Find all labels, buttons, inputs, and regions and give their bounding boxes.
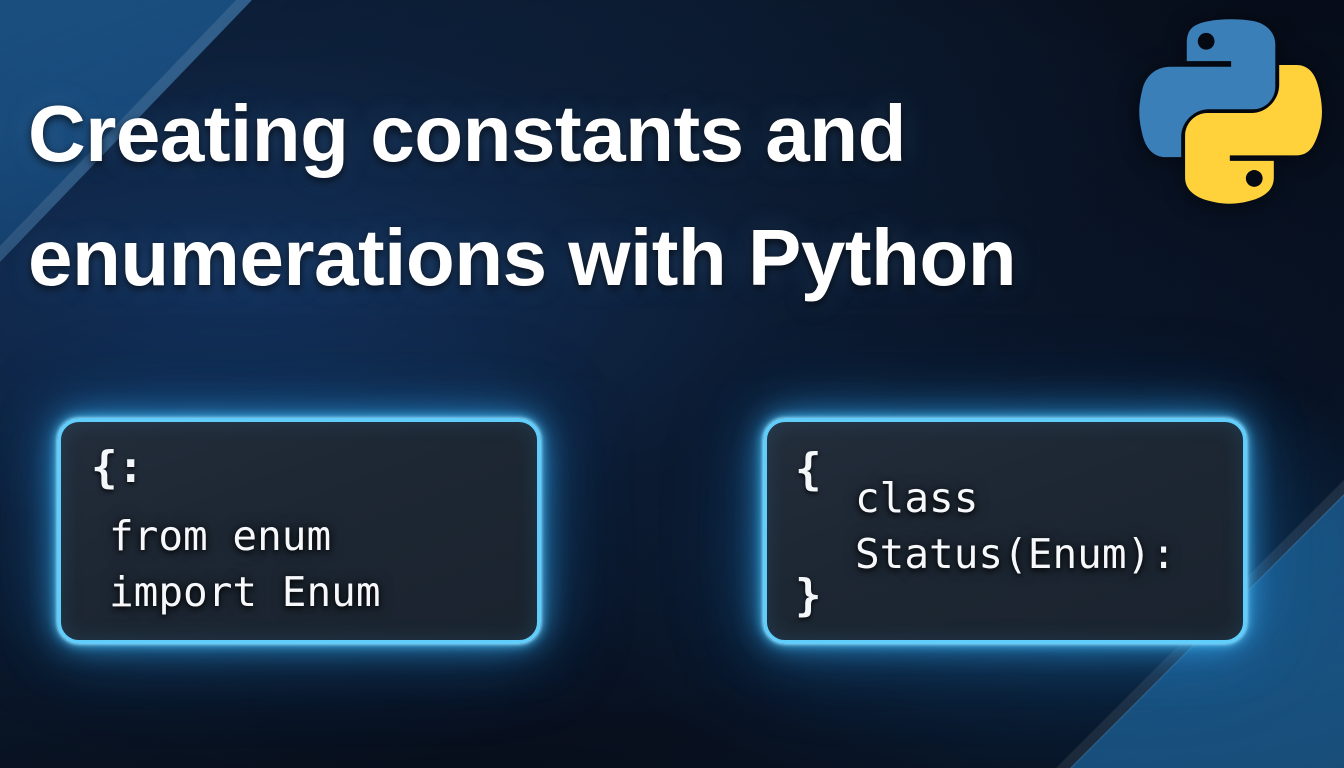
code-card-left[interactable]: {: from enum import Enum [57,418,541,644]
code-snippet-right: class Status(Enum): [855,470,1176,582]
python-logo-icon [1129,4,1334,209]
page-title: Creating constants and enumerations with… [28,72,1088,320]
code-brace-left: {: [91,446,144,490]
slide-canvas: Creating constants and enumerations with… [0,0,1344,768]
code-snippet-left: from enum import Enum [109,508,381,620]
code-brace-close-right: } [795,574,822,618]
code-card-right[interactable]: { } class Status(Enum): [763,418,1247,644]
code-brace-open-right: { [795,448,822,492]
